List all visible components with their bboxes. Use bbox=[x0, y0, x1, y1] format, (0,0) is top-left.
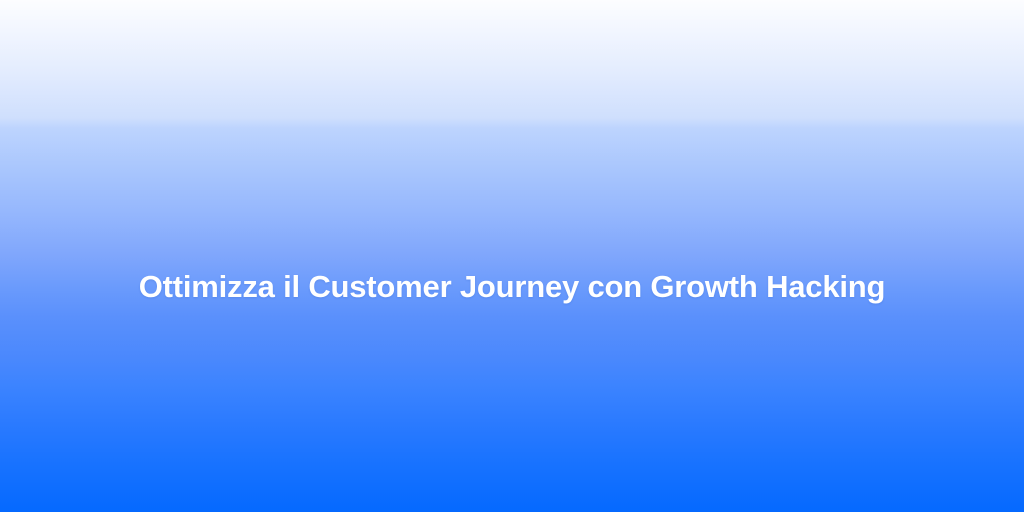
hero-content: Ottimizza il Customer Journey con Growth… bbox=[0, 268, 1024, 307]
page-title: Ottimizza il Customer Journey con Growth… bbox=[40, 268, 984, 307]
hero-banner: Ottimizza il Customer Journey con Growth… bbox=[0, 0, 1024, 512]
